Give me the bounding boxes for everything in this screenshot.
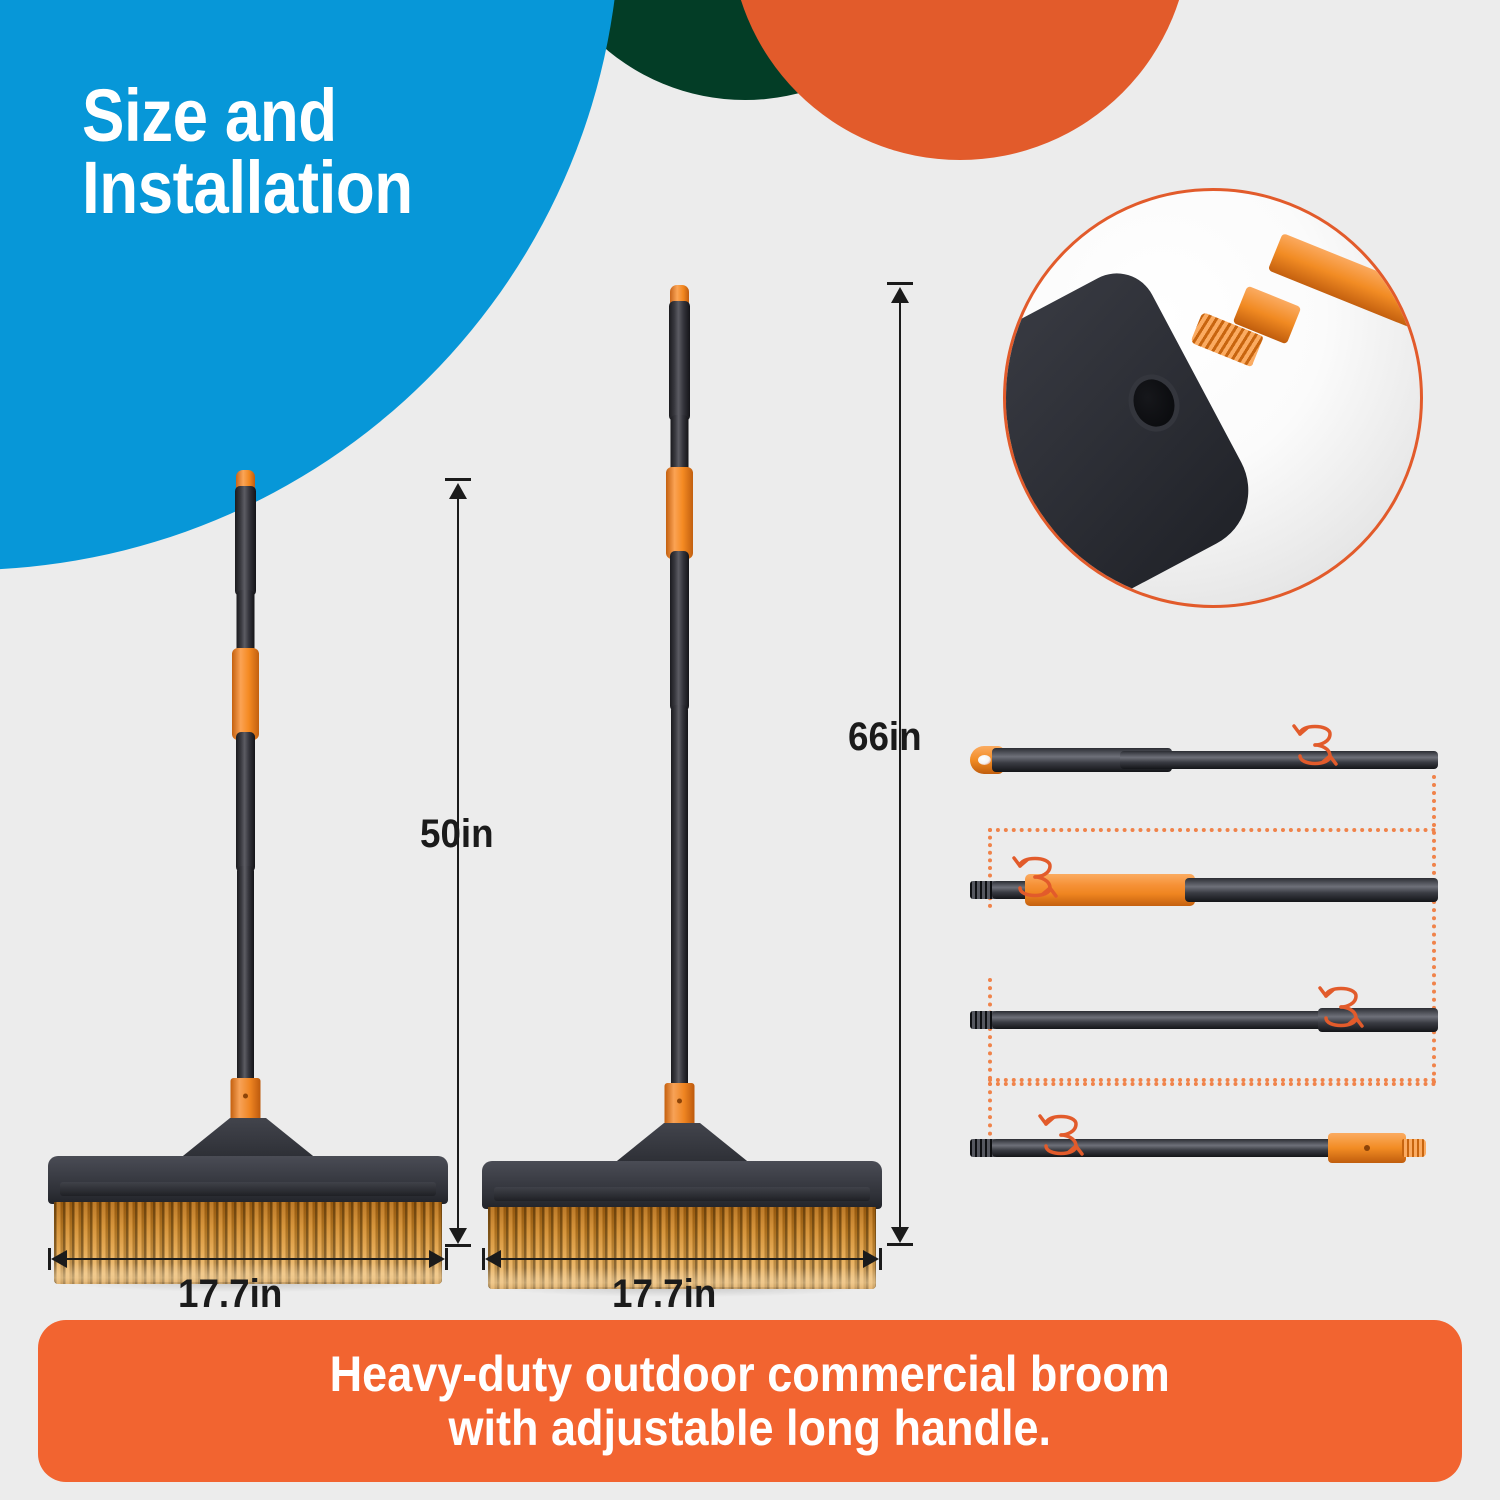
banner-text-block: Heavy-duty outdoor commercial broom with… [330,1347,1170,1455]
banner-line-1: Heavy-duty outdoor commercial broom [330,1347,1170,1401]
dim-arrow-down [891,1227,909,1243]
dotted-connector-2-v [1432,900,1436,1010]
dimension-label-66in: 66in [848,715,922,760]
dimension-label-50in: 50in [420,812,494,857]
banner-line-2: with adjustable long handle. [330,1401,1170,1455]
dim-tick-right [879,1248,882,1270]
dim-cap-bottom [445,1244,471,1247]
closeup-screw [1403,275,1410,282]
dim-tick-right [445,1248,448,1270]
broom-left-pole [245,470,246,1090]
rotate-arrow-icon-2 [1012,848,1058,906]
hang-hole [978,755,991,765]
segment-tube-main [992,1011,1332,1029]
dim-cap-top [887,282,913,285]
dim-arrow-down [449,1228,467,1244]
dim-cap-top [445,478,471,481]
segment-orange-connector [1328,1133,1406,1163]
dimension-line-width-left [48,1248,448,1270]
pole-orange-grip [666,467,693,559]
rotate-arrow-icon-3 [1318,978,1364,1036]
dimension-line-66in [882,282,918,1247]
dotted-connector-1-v [1432,775,1436,875]
collar-screw [677,1099,682,1104]
dim-shaft [498,1258,866,1260]
page-title-line-1: Size and [82,80,413,152]
dim-arrow-right [429,1250,445,1268]
bottom-banner: Heavy-duty outdoor commercial broom with… [38,1320,1462,1482]
broom-illustration-66in [482,285,882,1260]
dimension-line-width-right [482,1248,882,1270]
dotted-connector-1-h [988,828,1436,832]
dim-cap-bottom [887,1243,913,1246]
dim-arrow-right [863,1250,879,1268]
dim-shaft [64,1258,432,1260]
pole-upper-segment [669,301,690,421]
rotate-arrow-icon-1 [1292,716,1338,774]
dimension-label-width-left: 17.7in [178,1272,282,1317]
closeup-broom-head [1003,259,1269,608]
dim-shaft [457,492,459,1234]
dimension-line-50in [440,478,476,1248]
dim-shaft [899,296,901,1233]
segment-tube-lower [1120,751,1438,769]
rotate-arrow-icon-4 [1038,1106,1084,1164]
collar-screw [243,1094,248,1099]
infographic-canvas: Size and Installation [0,0,1500,1500]
pole-lower-segment [237,866,254,1096]
connector-screw [1364,1145,1370,1151]
pole-lower-segment [671,705,688,1105]
assembly-segment-3 [970,1000,1438,1040]
segment-tube-lower [1185,878,1438,902]
pole-head-collar [230,1078,260,1122]
head-bar [482,1161,882,1209]
decorative-orange-circle [730,0,1190,160]
connector-threaded-tip [1402,1139,1426,1157]
pole-mid-segment [670,551,689,711]
pole-head-collar [664,1083,694,1127]
page-title-line-2: Installation [82,152,413,224]
pole-mid-segment [236,732,255,872]
pole-upper-segment [235,486,256,596]
page-title: Size and Installation [82,80,413,224]
pole-orange-grip [232,648,259,740]
dimension-label-width-right: 17.7in [612,1272,716,1317]
closeup-inset-circle [1003,188,1423,608]
assembly-segment-1 [970,740,1438,780]
broom-illustration-50in [48,470,448,1260]
broom-right-pole [679,285,680,1105]
dotted-connector-3-h [988,1082,1436,1086]
head-bar [48,1156,448,1204]
